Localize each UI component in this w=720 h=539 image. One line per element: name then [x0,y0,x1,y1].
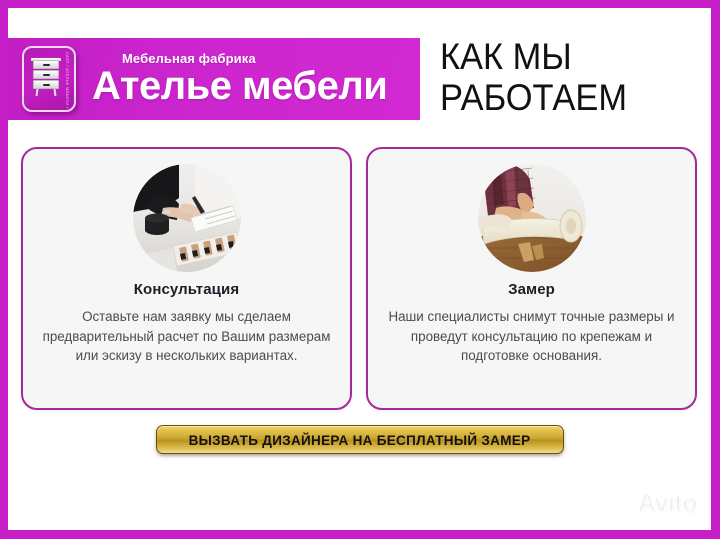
poster-root: САЙТ / АТЕЛЬЕ МЕБЕЛИ / РФ Мебельная фабр… [0,0,720,539]
card-title: Консультация [23,281,350,298]
dresser-drawer [33,80,59,89]
logo-vertical-text: САЙТ / АТЕЛЬЕ МЕБЕЛИ / РФ [63,52,72,110]
woman-writing-at-desk-photo [133,164,241,272]
step-card-measurement[interactable]: Замер Наши специалисты снимут точные раз… [366,147,697,410]
call-designer-button[interactable]: ВЫЗВАТЬ ДИЗАЙНЕРА НА БЕСПЛАТНЫЙ ЗАМЕР [156,425,564,454]
page-title: КАК МЫ РАБОТАЕМ [440,36,627,119]
brand-logo-tile: САЙТ / АТЕЛЬЕ МЕБЕЛИ / РФ [22,46,76,112]
avito-wordmark: Avito [638,489,697,518]
dresser-drawer [33,70,59,79]
avito-dots-icon [613,490,635,517]
dresser-leg [54,89,57,96]
poster-header: САЙТ / АТЕЛЬЕ МЕБЕЛИ / РФ Мебельная фабр… [8,38,711,120]
brand-bar: САЙТ / АТЕЛЬЕ МЕБЕЛИ / РФ Мебельная фабр… [8,38,420,120]
dresser-icon [33,58,59,98]
steps-card-list: Консультация Оставьте нам заявку мы сдел… [8,147,711,412]
avito-watermark: Avito [613,489,697,518]
consultation-photo [133,164,241,272]
card-body: Оставьте нам заявку мы сделаем предварит… [41,307,333,366]
dresser-leg [36,89,39,96]
step-card-consultation[interactable]: Консультация Оставьте нам заявку мы сдел… [21,147,352,410]
craftsman-unrolling-foam-photo [478,164,586,272]
measurement-photo [478,164,586,272]
poster-canvas: САЙТ / АТЕЛЬЕ МЕБЕЛИ / РФ Мебельная фабр… [8,8,711,530]
cta-container: ВЫЗВАТЬ ДИЗАЙНЕРА НА БЕСПЛАТНЫЙ ЗАМЕР [8,425,711,454]
brand-name: Ателье мебели [92,66,387,106]
dresser-drawer [33,60,59,69]
card-title: Замер [368,281,695,298]
brand-text-block: Мебельная фабрика Ателье мебели [92,52,387,106]
card-body: Наши специалисты снимут точные размеры и… [386,307,678,366]
